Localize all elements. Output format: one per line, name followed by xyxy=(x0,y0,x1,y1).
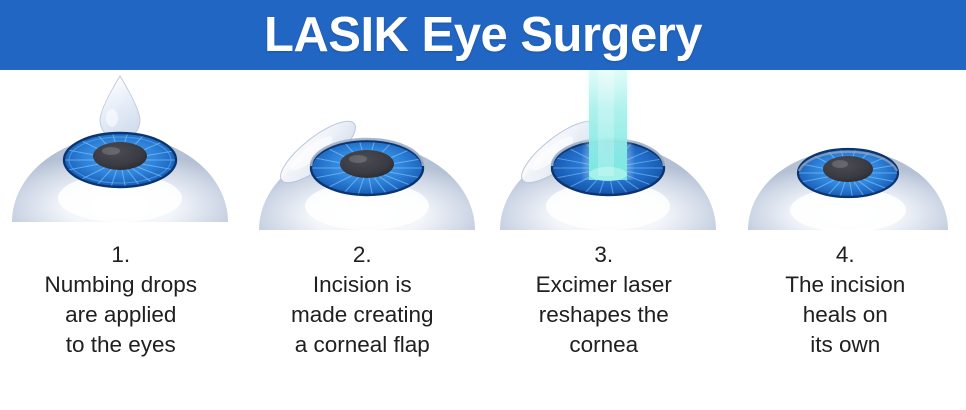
laser-beam-icon xyxy=(581,70,635,181)
step-1-line-2: are applied xyxy=(44,300,197,330)
step-1-illustration xyxy=(0,70,242,238)
step-4-caption: 4. The incision heals on its own xyxy=(785,240,905,360)
step-3-caption: 3. Excimer laser reshapes the cornea xyxy=(536,240,672,360)
step-2-line-1: Incision is xyxy=(291,270,434,300)
healed-eye-icon xyxy=(725,70,966,238)
step-4-illustration xyxy=(725,70,966,238)
step-4-line-1: The incision xyxy=(785,270,905,300)
step-4-line-2: heals on xyxy=(785,300,905,330)
step-3: 3. Excimer laser reshapes the cornea xyxy=(483,70,725,410)
step-1-number: 1. xyxy=(44,240,197,270)
pupil xyxy=(823,156,873,182)
pupil xyxy=(340,150,394,178)
page-title: LASIK Eye Surgery xyxy=(264,7,702,63)
eye-with-corneal-flap-icon xyxy=(242,70,484,238)
step-2-line-3: a corneal flap xyxy=(291,330,434,360)
step-3-illustration xyxy=(483,70,725,238)
step-3-line-2: reshapes the xyxy=(536,300,672,330)
page-header: LASIK Eye Surgery xyxy=(0,0,966,70)
step-3-number: 3. xyxy=(536,240,672,270)
step-2-number: 2. xyxy=(291,240,434,270)
step-1-caption: 1. Numbing drops are applied to the eyes xyxy=(44,240,197,360)
step-2-illustration xyxy=(242,70,484,238)
step-3-line-1: Excimer laser xyxy=(536,270,672,300)
pupil xyxy=(93,142,147,170)
eye-with-eyedrop-icon xyxy=(0,70,242,238)
step-1-line-3: to the eyes xyxy=(44,330,197,360)
step-4-line-3: its own xyxy=(785,330,905,360)
step-2: 2. Incision is made creating a corneal f… xyxy=(242,70,484,410)
step-2-caption: 2. Incision is made creating a corneal f… xyxy=(291,240,434,360)
step-1-line-1: Numbing drops xyxy=(44,270,197,300)
step-4-number: 4. xyxy=(785,240,905,270)
steps-container: 1. Numbing drops are applied to the eyes xyxy=(0,70,966,410)
step-3-line-3: cornea xyxy=(536,330,672,360)
step-1: 1. Numbing drops are applied to the eyes xyxy=(0,70,242,410)
teardrop-icon xyxy=(100,76,140,140)
step-4: 4. The incision heals on its own xyxy=(725,70,966,410)
step-2-line-2: made creating xyxy=(291,300,434,330)
eye-with-excimer-laser-icon xyxy=(483,70,725,238)
